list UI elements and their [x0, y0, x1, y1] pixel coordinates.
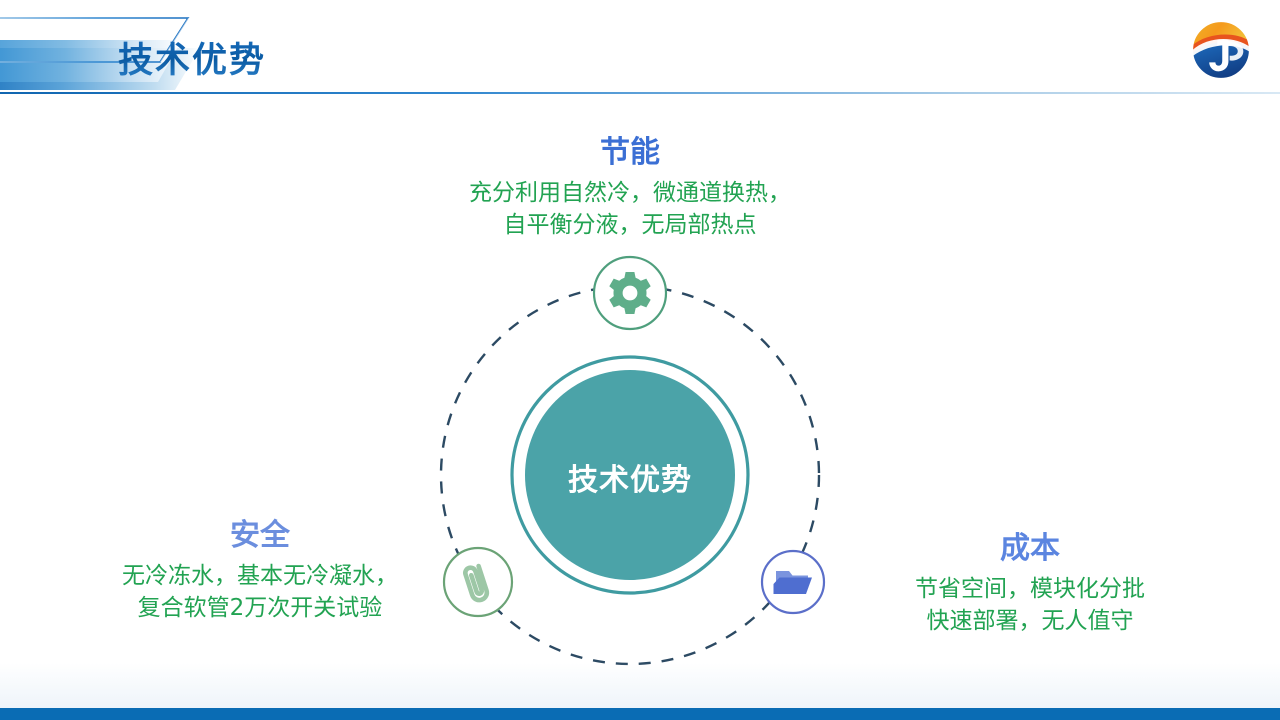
energy-heading: 节能: [390, 136, 870, 171]
advantage-block-energy: 节能 充分利用自然冷，微通道换热， 自平衡分液，无局部热点: [390, 136, 870, 242]
cost-heading: 成本: [820, 532, 1240, 567]
company-logo-circular-j: [1190, 19, 1252, 81]
footer-gradient: [0, 663, 1280, 708]
cost-line-1: 节省空间，模块化分批: [820, 573, 1240, 606]
safety-body: 无冷冻水，基本无冷凝水， 复合软管2万次开关试验: [40, 560, 480, 625]
safety-line-1: 无冷冻水，基本无冷凝水，: [40, 560, 480, 593]
gear-icon: [609, 272, 650, 314]
slide-canvas: 技术优势: [0, 0, 1280, 720]
node-folder[interactable]: [762, 551, 824, 613]
footer-bar: [0, 708, 1280, 720]
node-gear[interactable]: [594, 257, 666, 329]
gear-node-circle[interactable]: [594, 257, 666, 329]
slide-header: 技术优势: [0, 0, 1280, 95]
safety-line-2: 复合软管2万次开关试验: [40, 592, 480, 625]
energy-line-2: 自平衡分液，无局部热点: [390, 209, 870, 242]
energy-line-1: 充分利用自然冷，微通道换热，: [390, 177, 870, 210]
cost-body: 节省空间，模块化分批 快速部署，无人值守: [820, 573, 1240, 638]
page-title: 技术优势: [118, 32, 266, 83]
folder-icon: [774, 571, 813, 594]
advantage-block-cost: 成本 节省空间，模块化分批 快速部署，无人值守: [820, 532, 1240, 638]
center-circle-label: 技术优势: [530, 455, 730, 499]
safety-heading: 安全: [40, 519, 480, 554]
folder-node-circle[interactable]: [762, 551, 824, 613]
advantage-block-safety: 安全 无冷冻水，基本无冷凝水， 复合软管2万次开关试验: [40, 519, 480, 625]
cost-line-2: 快速部署，无人值守: [820, 605, 1240, 638]
header-divider: [0, 92, 1280, 94]
energy-body: 充分利用自然冷，微通道换热， 自平衡分液，无局部热点: [390, 177, 870, 242]
